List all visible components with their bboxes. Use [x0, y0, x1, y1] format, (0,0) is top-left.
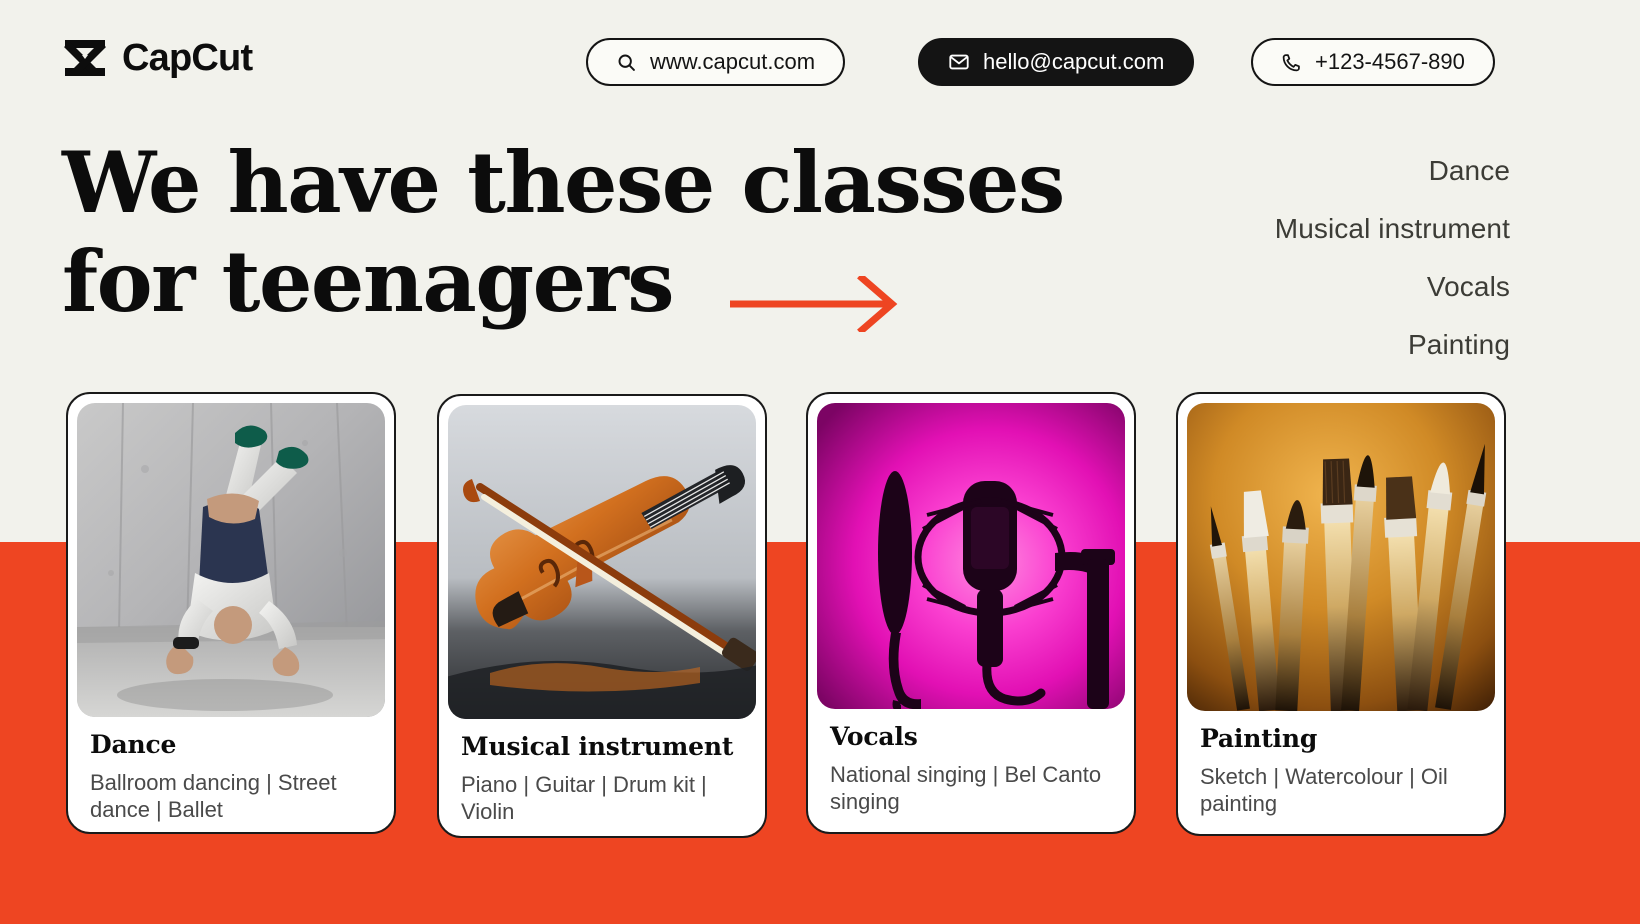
class-card-vocals-title: Vocals [830, 723, 1112, 751]
class-card-musical-instrument-media [448, 405, 756, 719]
arrow-right-icon[interactable] [730, 276, 898, 332]
class-card-dance-media [77, 403, 385, 717]
class-card-musical-instrument-body: Musical instrument Piano | Guitar | Drum… [439, 719, 765, 826]
contact-website[interactable]: www.capcut.com [586, 38, 845, 86]
brand-logo[interactable]: CapCut [62, 36, 252, 80]
class-card-painting-description: Sketch | Watercolour | Oil painting [1200, 763, 1482, 818]
class-card-vocals-media [817, 403, 1125, 709]
category-item-dance[interactable]: Dance [1275, 142, 1510, 200]
contact-website-label: www.capcut.com [650, 49, 815, 75]
class-card-dance[interactable]: Dance Ballroom dancing | Street dance | … [66, 392, 396, 834]
phone-icon [1281, 52, 1302, 73]
class-card-dance-description: Ballroom dancing | Street dance | Ballet [90, 769, 372, 824]
contact-phone[interactable]: +123-4567-890 [1251, 38, 1495, 86]
class-card-vocals-body: Vocals National singing | Bel Canto sing… [808, 709, 1134, 816]
search-icon [616, 52, 637, 73]
class-card-vocals-description: National singing | Bel Canto singing [830, 761, 1112, 816]
page-title-line-1: We have these classes [62, 133, 1152, 232]
page-header: CapCut www.capcut.com hello@capcut.com +… [0, 38, 1640, 88]
mail-icon [948, 51, 970, 73]
category-item-vocals[interactable]: Vocals [1275, 258, 1510, 316]
breakdancer-handstand-photo [77, 403, 385, 717]
class-card-musical-instrument[interactable]: Musical instrument Piano | Guitar | Drum… [437, 394, 767, 838]
class-card-dance-title: Dance [90, 731, 372, 759]
category-item-musical-instrument[interactable]: Musical instrument [1275, 200, 1510, 258]
class-card-painting-body: Painting Sketch | Watercolour | Oil pain… [1178, 711, 1504, 818]
class-card-musical-instrument-title: Musical instrument [461, 733, 743, 761]
page-title-line-2: for teenagers [62, 232, 1152, 331]
violin-and-bow-photo [448, 405, 756, 719]
page-title: We have these classes for teenagers [62, 133, 1152, 331]
class-card-painting-media [1187, 403, 1495, 711]
class-card-musical-instrument-description: Piano | Guitar | Drum kit | Violin [461, 771, 743, 826]
class-card-dance-body: Dance Ballroom dancing | Street dance | … [68, 717, 394, 824]
category-item-painting[interactable]: Painting [1275, 316, 1510, 374]
contact-email[interactable]: hello@capcut.com [918, 38, 1194, 86]
paintbrushes-amber-photo [1187, 403, 1495, 711]
studio-microphone-magenta-photo [817, 403, 1125, 709]
contact-phone-label: +123-4567-890 [1315, 49, 1465, 75]
category-nav: Dance Musical instrument Vocals Painting [1275, 142, 1510, 374]
capcut-hourglass-icon [62, 36, 108, 80]
contact-email-label: hello@capcut.com [983, 49, 1164, 75]
class-card-vocals[interactable]: Vocals National singing | Bel Canto sing… [806, 392, 1136, 834]
class-card-painting-title: Painting [1200, 725, 1482, 753]
brand-name: CapCut [122, 39, 252, 77]
class-card-painting[interactable]: Painting Sketch | Watercolour | Oil pain… [1176, 392, 1506, 836]
